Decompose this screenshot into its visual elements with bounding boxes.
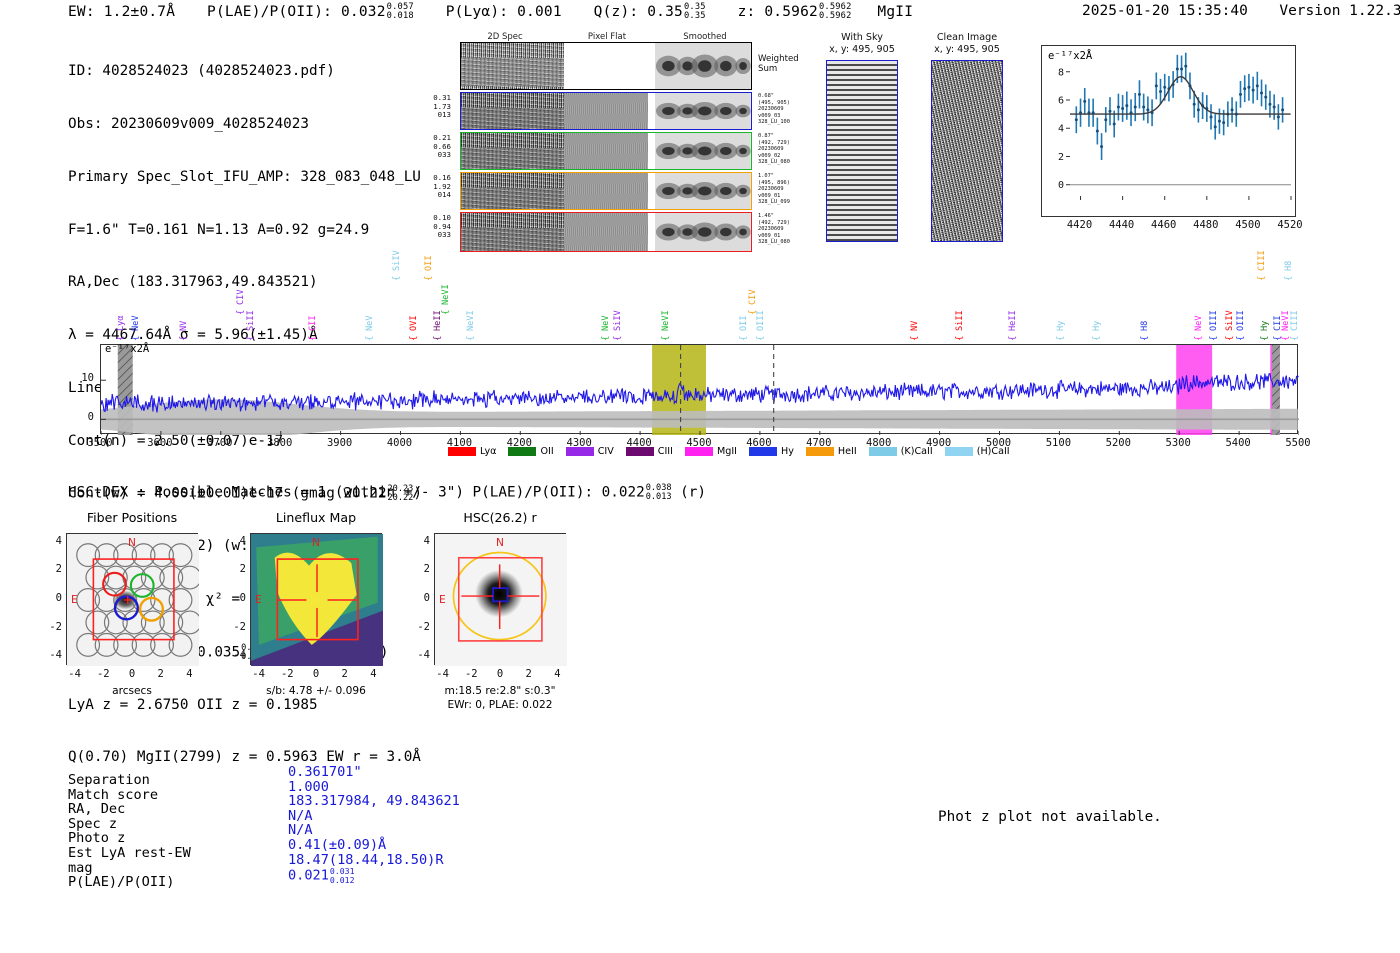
photz-unavailable-note: Phot z plot not available. (938, 809, 1162, 825)
emission-line-label: NeVI (466, 310, 476, 331)
fiber-positions-title: Fiber Positions (36, 510, 228, 525)
fiber-positions-canvas (66, 533, 198, 665)
spec-row-left-labels: 0.311.73013 (425, 94, 451, 120)
legend-label: CIII (658, 446, 673, 457)
spectrum-x-tick-label: 5400 (1214, 437, 1262, 449)
line-marker-brace: { (1194, 336, 1204, 341)
spec-cell-gap (648, 133, 655, 169)
spec-cell-sm (655, 43, 751, 89)
spec-panel-row (460, 172, 752, 210)
line-marker-brace: { (1290, 336, 1300, 341)
emission-line-label: Hy (1092, 321, 1102, 331)
legend-label: Lyα (480, 446, 496, 457)
spec-row-right-labels: 1.07"(495, 896)20230609v009_01328_LU_099 (758, 173, 814, 206)
fiber-positions-x-tick: 0 (118, 668, 146, 680)
fiber-positions-y-tick: -4 (42, 649, 62, 661)
version-label: Version 1.22.3 (1279, 3, 1400, 19)
spec-cell-flat-grey (564, 173, 648, 209)
header-plae: P(LAE)/P(OII): 0.032 (207, 4, 386, 20)
weighted-sum-label: WeightedSum (758, 54, 799, 74)
lineflux-map-x-tick: -2 (273, 668, 301, 680)
fit-x-tick-label: 4500 (1228, 219, 1268, 231)
line-marker-brace: { (1140, 336, 1150, 341)
hsc-r-image-x-tick: 0 (486, 668, 514, 680)
svg-text:0: 0 (1058, 180, 1064, 191)
line-marker-brace: { (433, 336, 443, 341)
match-row-value: 0.0210.0310.012 (288, 867, 354, 884)
legend-item: (H)CaII (945, 446, 1010, 457)
line-marker-brace: { (365, 336, 375, 341)
match-row-value: 18.47(18.44,18.50)R (288, 853, 444, 868)
spec-row-left-labels: 0.100.94033 (425, 214, 451, 240)
legend-swatch (626, 447, 654, 456)
header-line-id: MgII (877, 4, 913, 20)
legend-item: Lyα (448, 446, 496, 457)
emission-line-label: CIII (1290, 310, 1300, 331)
legend-swatch (945, 447, 973, 456)
emission-line-label: NeVI (441, 284, 451, 305)
emission-line-label: OIII (756, 310, 766, 331)
lineflux-map-x-tick: 4 (359, 668, 387, 680)
hsc-r-image-caption2: EWr: 0, PLAE: 0.022 (398, 699, 602, 711)
match-row-value: 0.41(±0.09)Å (288, 838, 386, 853)
emission-line-label: NeV (365, 315, 375, 331)
legend-item: CIII (626, 446, 673, 457)
emission-line-label: CIV (236, 289, 246, 305)
match-row-key: P(LAE)/P(OII) (68, 875, 174, 890)
legend-swatch (749, 447, 777, 456)
legend-item: HeII (806, 446, 857, 457)
match-row-value: 183.317984, 49.843621 (288, 794, 460, 809)
line-marker-brace: { (409, 336, 419, 341)
lineflux-map-x-tick: 2 (331, 668, 359, 680)
lineflux-map-compass-north: N (312, 537, 320, 549)
line-fit-plot: e⁻¹⁷x2Å 02468 (1041, 45, 1296, 217)
emission-line-label: NeVI (661, 310, 671, 331)
fit-x-tick-label: 4460 (1144, 219, 1184, 231)
emission-line-label: NV (179, 321, 189, 331)
spectrum-x-tick-label: 3600 (136, 437, 184, 449)
hsc-dex-headline: HSC-DEX : Possible Matches = 1 (within +… (68, 484, 706, 501)
emission-line-label: Hy (1056, 321, 1066, 331)
line-marker-brace: { (613, 336, 623, 341)
spec-panel-row (460, 92, 752, 130)
spectrum-annotation: e⁻¹⁷x2Å (105, 343, 149, 355)
lineflux-map-compass-east: E (255, 594, 262, 606)
spec-panel-row (460, 212, 752, 252)
legend-label: OII (540, 446, 553, 457)
legend-label: HeII (838, 446, 857, 457)
spectrum-x-tick-label: 5100 (1034, 437, 1082, 449)
fit-x-tick-label: 4480 (1186, 219, 1226, 231)
legend-swatch (566, 447, 594, 456)
line-marker-brace: { (424, 276, 434, 281)
header-plya: P(Lyα): 0.001 (446, 4, 562, 20)
spec-cell-noise (461, 133, 564, 169)
line-marker-brace: { (1284, 276, 1294, 281)
emission-line-label: OIII (1209, 310, 1219, 331)
svg-text:4: 4 (1058, 124, 1064, 135)
legend-label: (H)CaII (977, 446, 1010, 457)
spectrum-x-tick-label: 3700 (196, 437, 244, 449)
spec-cell-flat-grey (564, 213, 648, 251)
hsc-r-image-y-tick: -2 (410, 621, 430, 633)
spectrum-x-tick-label: 5500 (1274, 437, 1322, 449)
spectrum-x-tick-label: 5300 (1154, 437, 1202, 449)
emission-line-label: NV (910, 321, 920, 331)
column-header-pixelflat: Pixel Flat (567, 32, 647, 42)
legend-item: (K)CaII (869, 446, 933, 457)
spec-panel-row (460, 132, 752, 170)
emission-line-label: OIII (1236, 310, 1246, 331)
lineflux-map-title: Lineflux Map (220, 510, 412, 525)
info-lya-z: LyA z = 2.6750 OII z = 0.1985 (68, 697, 422, 715)
lineflux-map-canvas (250, 533, 382, 665)
spec-cell-sm (655, 133, 751, 169)
line-marker-brace: { (661, 336, 671, 341)
full-spectrum-plot: e⁻¹⁷x2Å (100, 344, 1298, 434)
timestamp: 2025-01-20 15:35:40 (1082, 3, 1248, 19)
legend-label: Hy (781, 446, 794, 457)
line-marker-brace: { (739, 336, 749, 341)
info-seeing: F=1.6" T=0.161 N=1.13 A=0.92 g=24.9 (68, 222, 422, 240)
fiber-positions-y-tick: 2 (42, 563, 62, 575)
hsc-r-image-caption: m:18.5 re:2.8" s:0.3" (398, 685, 602, 697)
spectrum-y-tick-label: 0 (62, 411, 94, 423)
info-id: ID: 4028524023 (4028524023.pdf) (68, 63, 422, 81)
line-marker-brace: { (1236, 336, 1246, 341)
emission-line-label: NeV (131, 315, 141, 331)
hsc-r-image-compass-north: N (496, 537, 504, 549)
fiber-positions-x-tick: -2 (89, 668, 117, 680)
emission-line-label: H8 (1140, 321, 1150, 331)
emission-line-label: NeV (1194, 315, 1204, 331)
spectrum-y-tick-label: 10 (62, 372, 94, 384)
hsc-r-image-y-tick: -4 (410, 649, 430, 661)
line-marker-brace: { (1260, 336, 1270, 341)
fiber-positions-y-tick: 4 (42, 535, 62, 547)
spec-cell-gap (648, 43, 655, 89)
column-header-smoothed: Smoothed (665, 32, 745, 42)
legend-item: CIV (566, 446, 614, 457)
line-marker-brace: { (466, 336, 476, 341)
sky-panel-title: With Sky (804, 32, 920, 43)
spec-row-left-labels: 0.161.92014 (425, 174, 451, 200)
lineflux-map-x-tick: -4 (245, 668, 273, 680)
svg-text:8: 8 (1058, 67, 1064, 78)
sky-panel-subtitle: x, y: 495, 905 (909, 44, 1025, 55)
emission-line-label: HeII (1008, 310, 1018, 331)
fiber-positions-x-tick: -4 (61, 668, 89, 680)
lineflux-map-y-tick: 2 (226, 563, 246, 575)
line-marker-brace: { (955, 336, 965, 341)
spec-cell-flat-grey (564, 93, 648, 129)
emission-line-label: CIII (1257, 250, 1267, 271)
spec-cell-flat-grey (564, 133, 648, 169)
hsc-r-image-x-tick: 4 (543, 668, 571, 680)
spectrum-x-tick-label: 3500 (76, 437, 124, 449)
fit-x-tick-label: 4440 (1102, 219, 1142, 231)
line-marker-brace: { (441, 310, 451, 315)
hsc-r-image-x-tick: -2 (457, 668, 485, 680)
legend-item: OII (508, 446, 553, 457)
fiber-positions-compass-east: E (71, 594, 78, 606)
hsc-r-image-y-tick: 4 (410, 535, 430, 547)
spec-row-right-labels: 1.46"(492, 729)20230609v009_01328_LU_080 (758, 213, 814, 246)
fiber-positions-y-tick: -2 (42, 621, 62, 633)
spec-row-right-labels: 0.87"(492, 729)20230609v009_02328_LU_080 (758, 133, 814, 166)
info-obs: Obs: 20230609v009_4028524023 (68, 116, 422, 134)
twod-spec-block: 2D Spec Pixel Flat Smoothed 0.311.730130… (425, 32, 805, 257)
with-sky-image (826, 60, 898, 242)
line-marker-brace: { (1209, 336, 1219, 341)
legend-item: MgII (685, 446, 737, 457)
spec-cell-noise (461, 213, 564, 251)
spec-panel-row (460, 42, 752, 90)
fiber-positions-x-tick: 4 (175, 668, 203, 680)
lineflux-map-y-tick: 0 (226, 592, 246, 604)
svg-text:6: 6 (1058, 96, 1064, 107)
fiber-positions-x-tick: 2 (147, 668, 175, 680)
info-q-line: Q(0.70) MgII(2799) z = 0.5963 EW r = 3.0… (68, 749, 422, 767)
timestamp-version: 2025-01-20 15:35:40 Version 1.22.3 (1082, 3, 1400, 19)
line-marker-brace: { (246, 336, 256, 341)
spec-cell-noise (461, 93, 564, 129)
spectrum-legend: LyαOIICIVCIIIMgIIHyHeII(K)CaII(H)CaII (448, 446, 1010, 457)
spec-cell-gap (648, 93, 655, 129)
header-z: z: 0.5962 (738, 4, 818, 20)
emission-line-label: Hy (1260, 321, 1270, 331)
legend-swatch (869, 447, 897, 456)
line-marker-brace: { (116, 336, 126, 341)
spectrum-x-tick-label: 5200 (1094, 437, 1142, 449)
emission-line-label: Lyα (116, 315, 126, 331)
emission-line-label: OII (739, 315, 749, 331)
line-marker-brace: { (910, 336, 920, 341)
line-marker-brace: { (756, 336, 766, 341)
spec-cell-noise (461, 173, 564, 209)
spec-cell-gap (648, 213, 655, 251)
line-marker-brace: { (601, 336, 611, 341)
line-marker-brace: { (1092, 336, 1102, 341)
fit-x-tick-label: 4520 (1270, 219, 1310, 231)
emission-line-label: H8 (1284, 261, 1294, 271)
emission-line-label: SiII (955, 310, 965, 331)
lineflux-map-y-tick: -2 (226, 621, 246, 633)
legend-label: CIV (598, 446, 614, 457)
spec-cell-sm (655, 173, 751, 209)
line-marker-brace: { (1225, 336, 1235, 341)
legend-item: Hy (749, 446, 794, 457)
hsc-r-image-x-tick: 2 (515, 668, 543, 680)
header-ew: EW: 1.2±0.7Å (68, 4, 175, 20)
lineflux-map-x-tick: 0 (302, 668, 330, 680)
emission-line-label: SiIV (613, 310, 623, 331)
fit-x-tick-label: 4420 (1060, 219, 1100, 231)
line-marker-brace: { (308, 336, 318, 341)
fiber-positions-compass-north: N (128, 537, 136, 549)
legend-swatch (685, 447, 713, 456)
lineflux-map-caption: s/b: 4.78 +/- 0.096 (214, 685, 418, 697)
line-marker-brace: { (392, 276, 402, 281)
spectrum-x-tick-label: 3900 (316, 437, 364, 449)
hsc-r-image-y-tick: 2 (410, 563, 430, 575)
hsc-r-image-canvas (434, 533, 566, 665)
fiber-positions-xlabel: arcsecs (36, 685, 228, 697)
emission-line-label: NeV (601, 315, 611, 331)
spec-cell-sm (655, 93, 751, 129)
spec-row-right-labels: 0.68"(495, 905)20230609v009_03328_LU_100 (758, 93, 814, 126)
sky-panel-title: Clean Image (909, 32, 1025, 43)
spec-cell-noise (461, 43, 564, 89)
hsc-r-image-compass-east: E (439, 594, 446, 606)
spectrum-x-tick-label: 4000 (376, 437, 424, 449)
emission-line-label: CII (308, 315, 318, 331)
emission-line-label: OVI (409, 315, 419, 331)
match-row-key: Separation (68, 773, 150, 788)
full-spectrum-canvas (101, 345, 1299, 435)
lineflux-map-y-tick: -4 (226, 649, 246, 661)
spec-cell-flat-white (564, 43, 648, 89)
legend-label: MgII (717, 446, 737, 457)
line-marker-brace: { (179, 336, 189, 341)
line-marker-brace: { (1056, 336, 1066, 341)
legend-swatch (806, 447, 834, 456)
hsc-r-image-title: HSC(26.2) r (404, 510, 596, 525)
hsc-r-image-x-tick: -4 (429, 668, 457, 680)
info-slot: Primary Spec_Slot_IFU_AMP: 328_083_048_L… (68, 169, 422, 187)
fit-plot-canvas: 02468 (1042, 46, 1297, 218)
hsc-r-image-y-tick: 0 (410, 592, 430, 604)
spec-row-left-labels: 0.210.66033 (425, 134, 451, 160)
line-marker-brace: { (236, 310, 246, 315)
emission-line-label: SiIV (1225, 310, 1235, 331)
fiber-positions-y-tick: 0 (42, 592, 62, 604)
match-row-key: Est LyA rest-EW (68, 846, 191, 861)
match-row-value: 0.361701" (288, 765, 362, 780)
emission-line-label: CIV (748, 289, 758, 305)
legend-label: (K)CaII (901, 446, 933, 457)
line-marker-brace: { (131, 336, 141, 341)
match-row-key: RA, Dec (68, 802, 125, 817)
spectrum-x-tick-label: 3800 (256, 437, 304, 449)
line-marker-brace: { (1257, 276, 1267, 281)
emission-line-label: SiIV (392, 250, 402, 271)
legend-swatch (508, 447, 536, 456)
header-summary-line: EW: 1.2±0.7Å P(LAE)/P(OII): 0.0320.0570.… (68, 3, 913, 21)
clean-image (931, 60, 1003, 242)
emission-line-label: OII (424, 255, 434, 271)
emission-line-label: SiII (246, 310, 256, 331)
legend-swatch (448, 447, 476, 456)
spec-cell-sm (655, 213, 751, 251)
lineflux-map-y-tick: 4 (226, 535, 246, 547)
column-header-2dspec: 2D Spec (465, 32, 545, 42)
header-qz: Q(z): 0.35 (594, 4, 683, 20)
sky-panel-subtitle: x, y: 495, 905 (804, 44, 920, 55)
svg-text:2: 2 (1058, 152, 1064, 163)
spec-cell-gap (648, 173, 655, 209)
line-marker-brace: { (1008, 336, 1018, 341)
